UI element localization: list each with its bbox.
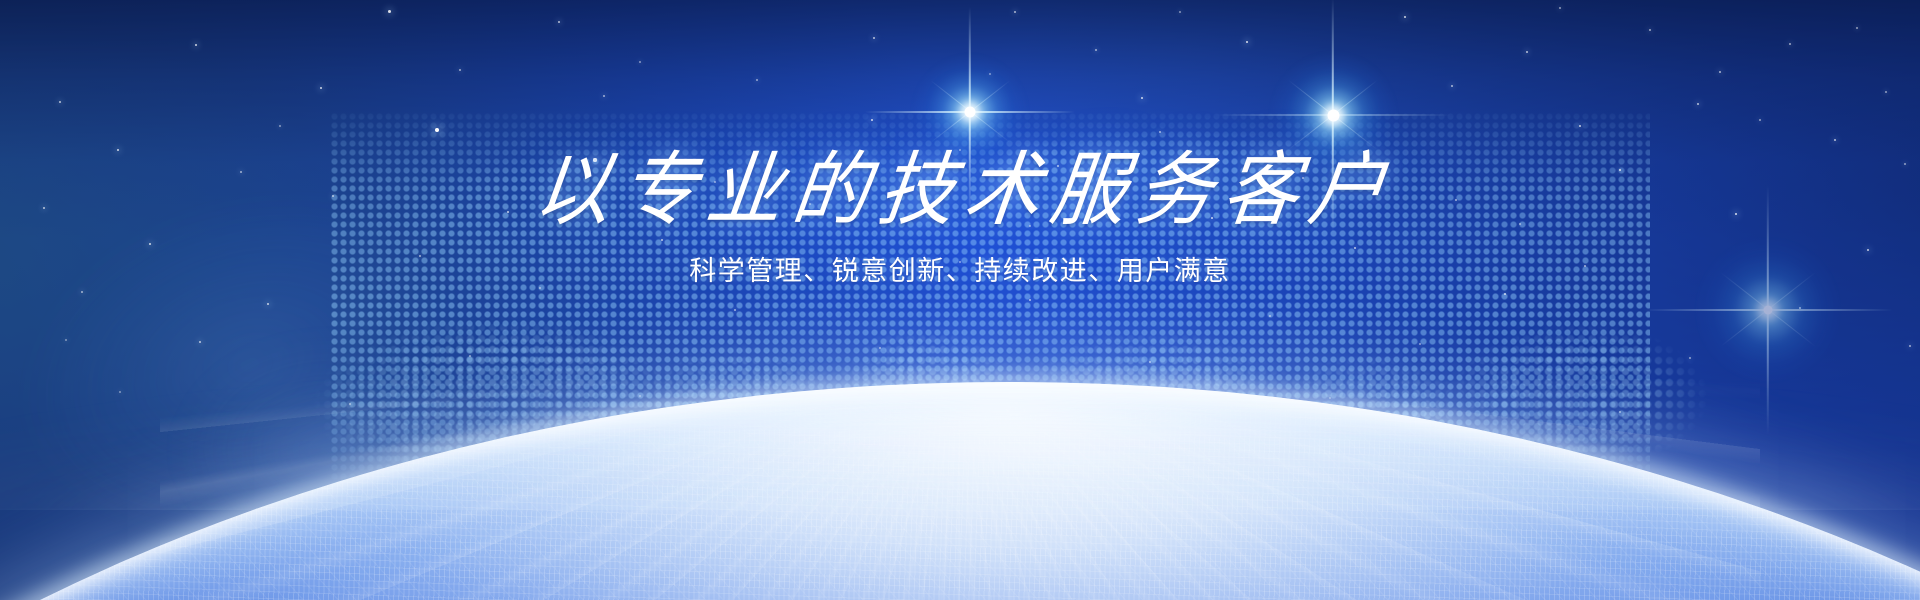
star-icon (117, 149, 120, 152)
star-icon (873, 37, 875, 39)
star-icon (419, 255, 421, 257)
star-icon (149, 243, 152, 246)
star-icon (1834, 139, 1836, 141)
star-icon (756, 79, 758, 81)
star-icon (1354, 247, 1356, 249)
star-icon (1526, 51, 1528, 53)
star-icon (558, 21, 560, 23)
flare-core (965, 107, 976, 118)
star-icon (1519, 223, 1521, 225)
star-icon (1559, 7, 1561, 9)
star-icon (603, 95, 605, 97)
banner-subtitle: 科学管理、锐意创新、持续改进、用户满意 (689, 258, 1231, 285)
star-icon (1451, 85, 1453, 87)
star-icon (1141, 97, 1144, 100)
star-icon (1584, 265, 1586, 267)
star-icon (1619, 169, 1622, 172)
star-icon (240, 171, 242, 173)
star-icon (507, 211, 510, 214)
star-icon (1095, 49, 1097, 51)
flare-core (1327, 109, 1339, 121)
star-icon (1719, 71, 1721, 73)
star-icon (1759, 119, 1761, 121)
star-icon (639, 61, 641, 63)
star-icon (1404, 16, 1407, 19)
star-icon (279, 125, 281, 127)
star-icon (388, 10, 391, 13)
star-icon (320, 87, 323, 90)
star-icon (1904, 163, 1906, 165)
star-icon (1159, 131, 1161, 133)
hero-banner: 以专业的技术服务客户 科学管理、锐意创新、持续改进、用户满意 (0, 0, 1920, 600)
star-icon (1246, 41, 1249, 44)
star-icon (459, 69, 461, 71)
star-icon (1014, 11, 1016, 13)
star-icon (1789, 43, 1791, 45)
star-icon (59, 101, 61, 103)
star-icon (1867, 249, 1870, 252)
star-icon (1697, 103, 1699, 105)
star-icon (871, 119, 874, 122)
star-icon (195, 44, 198, 47)
earth-horizon-scene (0, 270, 1920, 600)
star-icon (661, 239, 663, 241)
banner-headline: 以专业的技术服务客户 (520, 150, 1400, 231)
star-icon (332, 195, 334, 197)
star-icon (435, 128, 439, 132)
star-icon (1179, 11, 1181, 13)
star-icon (1856, 27, 1858, 29)
star-icon (1455, 199, 1457, 201)
star-icon (1579, 125, 1582, 128)
star-icon (1649, 29, 1651, 31)
star-icon (43, 207, 45, 209)
star-icon (1885, 91, 1887, 93)
